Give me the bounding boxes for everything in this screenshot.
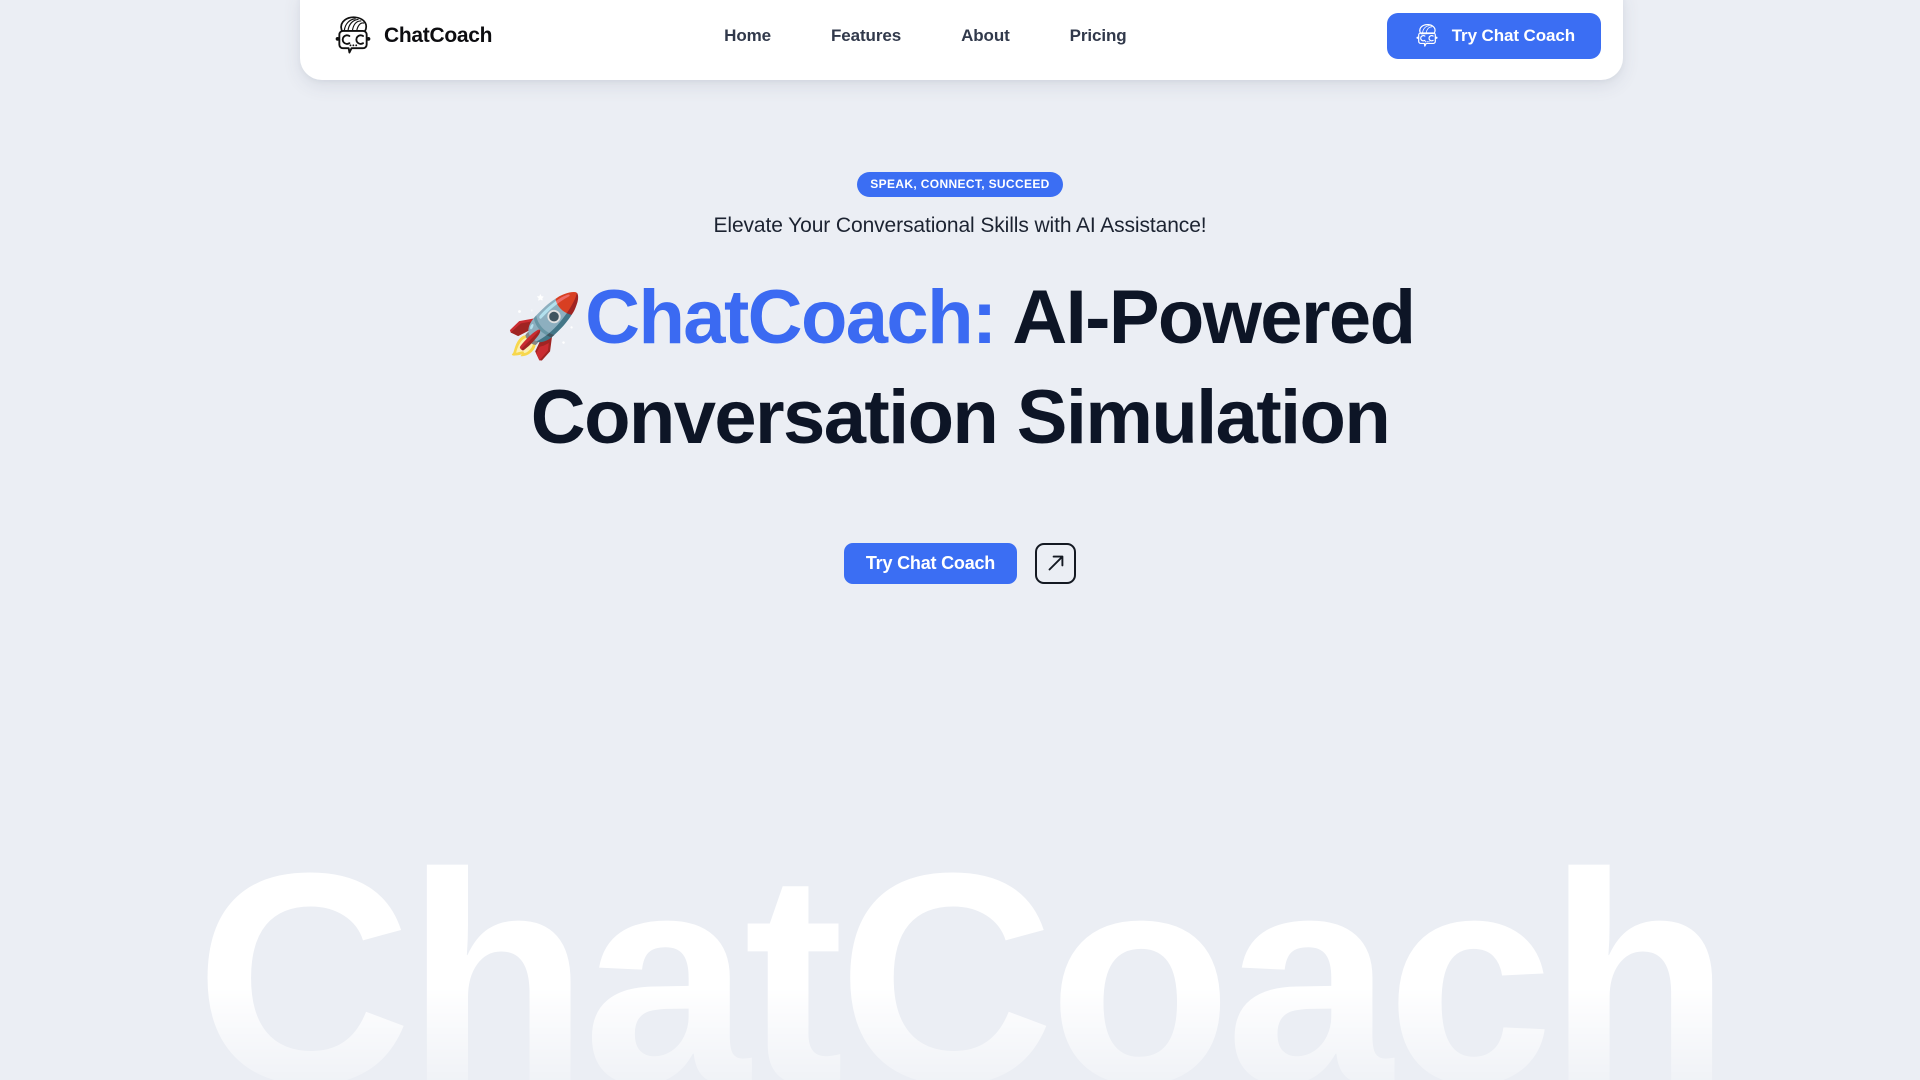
rocket-emoji-icon: 🚀 [506,292,582,361]
chatcoach-robot-face-logo-icon [330,13,376,59]
hero-arrow-button[interactable] [1035,543,1076,584]
brand-logo-link[interactable]: ChatCoach [330,13,492,59]
header-cta-label: Try Chat Coach [1452,26,1575,46]
robot-head-icon [1413,22,1441,50]
arrow-up-right-icon [1044,551,1068,575]
navbar: ChatCoach Home Features About Pricing [300,0,1623,80]
hero-section: SPEAK, CONNECT, SUCCEED Elevate Your Con… [0,82,1920,584]
header-try-chat-coach-button[interactable]: Try Chat Coach [1387,13,1601,59]
hero-try-chat-coach-button[interactable]: Try Chat Coach [844,543,1017,584]
hero-headline: 🚀ChatCoach: AI-Powered Conversation Simu… [360,268,1560,469]
nav-link-features[interactable]: Features [831,26,901,46]
eyebrow-badge: SPEAK, CONNECT, SUCCEED [857,172,1062,197]
nav-link-home[interactable]: Home [724,26,771,46]
nav-link-pricing[interactable]: Pricing [1070,26,1127,46]
hero-cta-row: Try Chat Coach [0,543,1920,584]
headline-accent: ChatCoach: [585,275,995,360]
nav-link-about[interactable]: About [961,26,1010,46]
site-header: ChatCoach Home Features About Pricing [0,0,1920,82]
hero-subheading: Elevate Your Conversational Skills with … [0,214,1920,238]
brand-name: ChatCoach [384,24,492,48]
primary-navigation: Home Features About Pricing [724,26,1126,46]
background-watermark-text: ChatCoach [0,828,1920,1080]
